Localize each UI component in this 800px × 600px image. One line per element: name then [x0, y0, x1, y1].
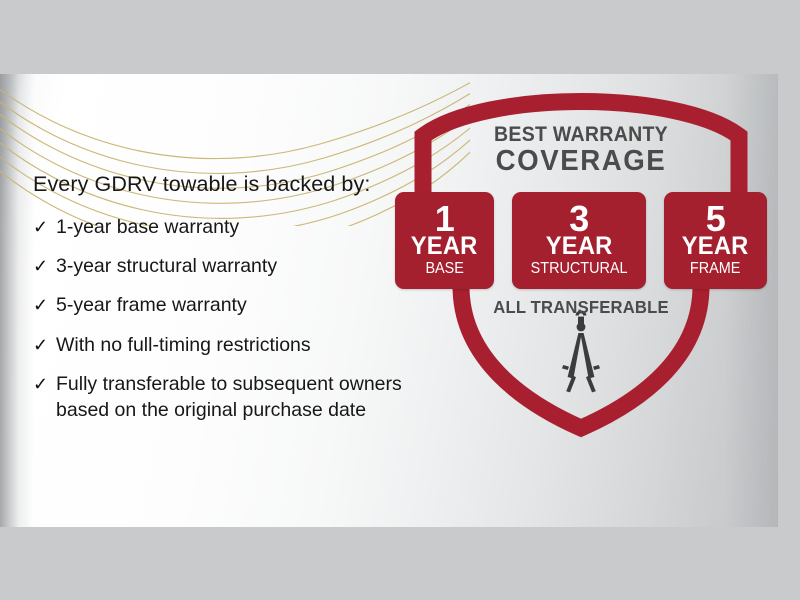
- list-item: ✓ Fully transferable to subsequent owner…: [33, 372, 433, 423]
- warranty-graphic-panel: Every GDRV towable is backed by: ✓ 1-yea…: [0, 74, 778, 527]
- list-item-label: Fully transferable to subsequent owners …: [56, 372, 433, 423]
- chip-unit: YEAR: [682, 235, 749, 259]
- left-edge-shading: [0, 74, 34, 527]
- list-item: ✓ 1-year base warranty: [33, 215, 433, 240]
- list-item-label: 1-year base warranty: [56, 215, 433, 240]
- badge-footer-label: ALL TRANSFERABLE: [404, 297, 757, 318]
- chip-unit: YEAR: [546, 235, 613, 259]
- list-item: ✓ 5-year frame warranty: [33, 293, 433, 318]
- chip-label: FRAME: [690, 261, 740, 277]
- chip-label: STRUCTURAL: [531, 261, 628, 277]
- list-item: ✓ With no full-timing restrictions: [33, 333, 433, 358]
- best-warranty-coverage-badge: BEST WARRANTY COVERAGE 1 YEAR BASE 3 YEA…: [395, 84, 767, 444]
- check-icon: ✓: [33, 293, 56, 317]
- coverage-chip-frame[interactable]: 5 YEAR FRAME: [664, 192, 767, 289]
- chip-number: 1: [435, 202, 455, 235]
- coverage-chip-group: 1 YEAR BASE 3 YEAR STRUCTURAL 5 YEAR FRA…: [395, 192, 767, 289]
- chip-number: 5: [706, 202, 726, 235]
- check-icon: ✓: [33, 215, 56, 239]
- list-item-label: With no full-timing restrictions: [56, 333, 433, 358]
- badge-title-line-1: BEST WARRANTY: [408, 123, 754, 147]
- warranty-copy-block: Every GDRV towable is backed by: ✓ 1-yea…: [33, 172, 433, 437]
- compass-divider-icon: [562, 311, 600, 393]
- page-title: Every GDRV towable is backed by:: [33, 172, 433, 198]
- check-icon: ✓: [33, 254, 56, 278]
- list-item: ✓ 3-year structural warranty: [33, 254, 433, 279]
- chip-unit: YEAR: [411, 235, 478, 259]
- chip-label: BASE: [425, 261, 463, 277]
- badge-title-line-2: COVERAGE: [401, 145, 762, 178]
- list-item-label: 3-year structural warranty: [56, 254, 433, 279]
- coverage-chip-structural[interactable]: 3 YEAR STRUCTURAL: [512, 192, 646, 289]
- check-icon: ✓: [33, 372, 56, 396]
- chip-number: 3: [569, 202, 589, 235]
- coverage-chip-base[interactable]: 1 YEAR BASE: [395, 192, 494, 289]
- check-icon: ✓: [33, 333, 56, 357]
- list-item-label: 5-year frame warranty: [56, 293, 433, 318]
- screenshot-stage: Every GDRV towable is backed by: ✓ 1-yea…: [0, 0, 800, 600]
